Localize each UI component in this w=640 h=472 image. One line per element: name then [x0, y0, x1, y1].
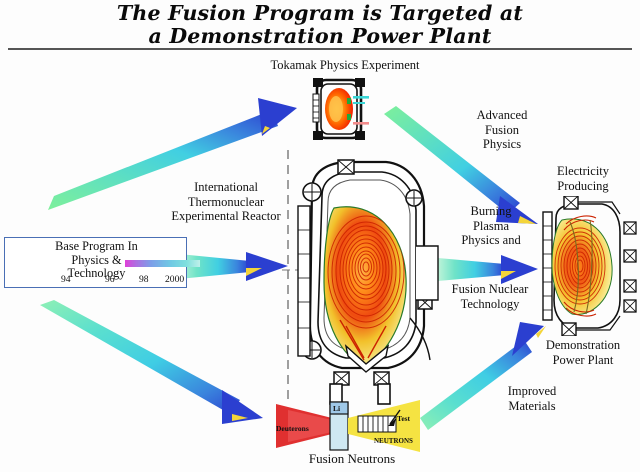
demo-power-plant-machine [540, 196, 638, 336]
arrow-base-to-neutrons [40, 300, 263, 424]
fusion-nuclear-technology-label: Fusion Nuclear Technology [438, 282, 542, 311]
test-module-label: Test [397, 414, 410, 423]
iter-machine [282, 150, 442, 405]
burning-plasma-label: Burning Plasma Physics and [443, 204, 539, 248]
neutrons-label: NEUTRONS [374, 437, 413, 445]
diagram-canvas: The Fusion Program is Targeted at a Demo… [0, 0, 640, 472]
demonstration-power-plant-label: Demonstration Power Plant [528, 338, 638, 367]
improved-materials-label: Improved Materials [488, 384, 576, 413]
advanced-fusion-physics-label: Advanced Fusion Physics [452, 108, 552, 152]
arrow-iter-to-demo [438, 255, 538, 284]
timeline-tick-94: 94 [61, 274, 71, 285]
lithium-target-label: Li [333, 404, 340, 413]
base-program-timeline: 94 96 98 2000 [5, 274, 188, 288]
tpx-label: Tokamak Physics Experiment [240, 58, 450, 73]
fusion-neutrons-label: Fusion Neutrons [262, 452, 442, 467]
iter-label: International Thermonuclear Experimental… [158, 180, 294, 224]
electricity-producing-label: Electricity Producing [538, 164, 628, 193]
deuterons-label: Deuterons [276, 424, 309, 433]
tpx-machine [309, 76, 371, 142]
timeline-tick-2000: 2000 [165, 274, 184, 285]
timeline-tick-96: 96 [105, 274, 115, 285]
base-program-progress-bar [125, 260, 200, 267]
base-program-box: Base Program In Physics & Technology 94 … [4, 237, 187, 288]
timeline-tick-98: 98 [139, 274, 149, 285]
